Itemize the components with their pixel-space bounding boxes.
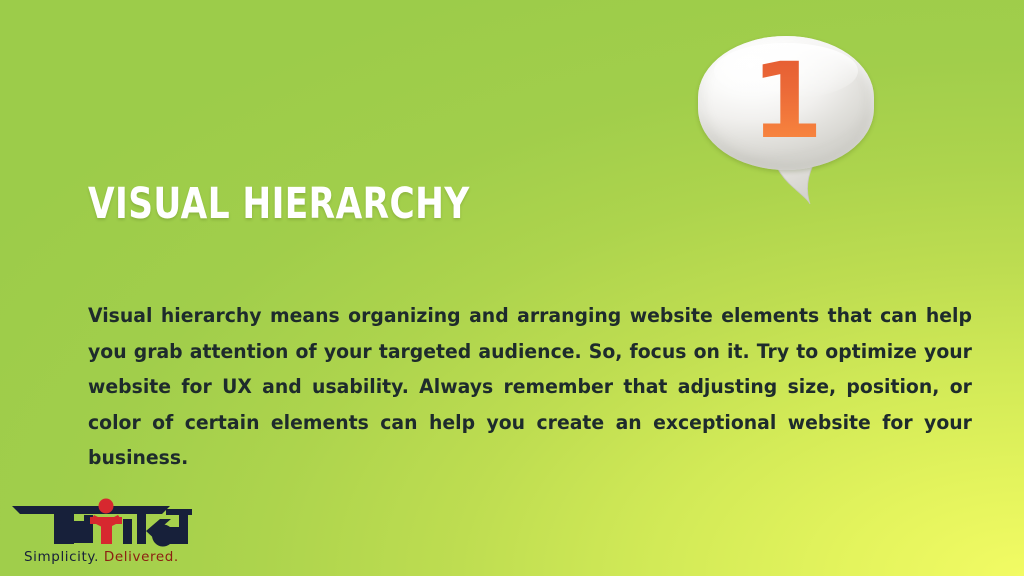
step-number-badge: 1	[698, 36, 874, 196]
tagline-primary: Simplicity.	[24, 549, 99, 565]
page-title: Visual Hierarchy	[88, 182, 470, 227]
brand-tagline: Simplicity. Delivered.	[24, 549, 179, 565]
slide-canvas: 1 Visual Hierarchy Visual hierarchy mean…	[0, 0, 1024, 576]
tanika-wordmark-icon	[10, 497, 196, 547]
body-paragraph: Visual hierarchy means organizing and ar…	[88, 298, 972, 476]
tagline-secondary: Delivered.	[104, 549, 179, 565]
step-number-text: 1	[698, 36, 874, 170]
brand-logo: Simplicity. Delivered.	[10, 497, 196, 569]
